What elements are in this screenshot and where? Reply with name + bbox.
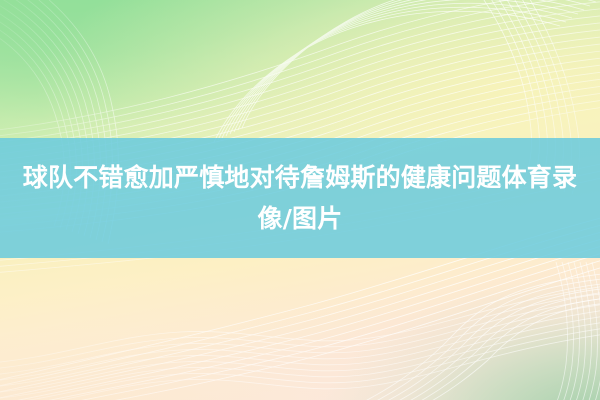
banner-image: 球队不错愈加严慎地对待詹姆斯的健康问题体育录像/图片 — [0, 0, 600, 400]
headline-band: 球队不错愈加严慎地对待詹姆斯的健康问题体育录像/图片 — [0, 138, 600, 258]
headline-text: 球队不错愈加严慎地对待詹姆斯的健康问题体育录像/图片 — [0, 157, 600, 239]
